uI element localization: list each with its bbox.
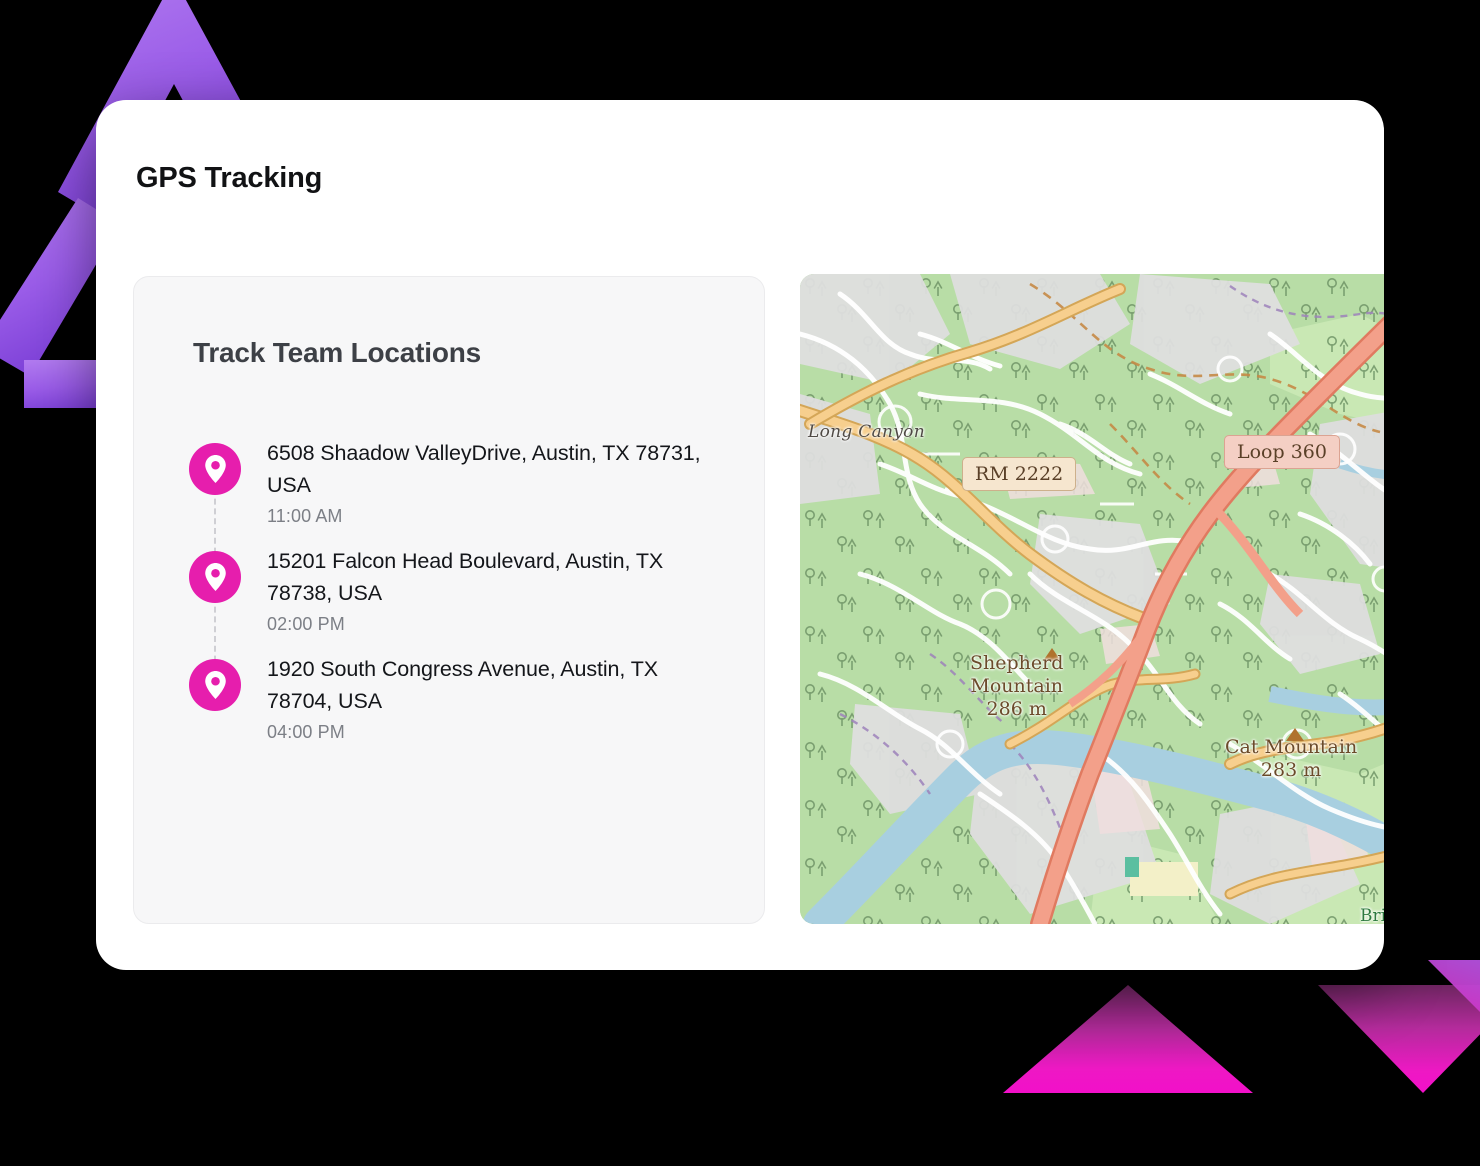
location-address: 15201 Falcon Head Boulevard, Austin, TX … [267, 543, 729, 609]
location-address: 6508 Shaadow ValleyDrive, Austin, TX 787… [267, 435, 727, 501]
location-address: 1920 South Congress Avenue, Austin, TX 7… [267, 651, 727, 717]
peak-marker-icon [1043, 648, 1061, 661]
panel-title: Track Team Locations [193, 337, 481, 369]
map-shield-loop360: Loop 360 [1224, 435, 1340, 469]
location-time: 11:00 AM [267, 506, 729, 527]
list-item[interactable]: 1920 South Congress Avenue, Austin, TX 7… [189, 651, 729, 743]
page-title: GPS Tracking [136, 162, 322, 195]
map-shield-rm2222: RM 2222 [962, 457, 1076, 491]
decorative-magenta-triangle-up [1003, 985, 1253, 1093]
track-locations-panel: Track Team Locations 6508 Shaadow Valley… [133, 276, 765, 924]
map-pin-icon [189, 443, 241, 495]
location-time: 04:00 PM [267, 722, 729, 743]
list-item[interactable]: 6508 Shaadow ValleyDrive, Austin, TX 787… [189, 435, 729, 543]
map-viewport[interactable]: Long Canyon RM 2222 Loop 360 Shepherd Mo… [800, 274, 1384, 924]
peak-marker-icon [1286, 728, 1304, 741]
page-root: GPS Tracking Track Team Locations 6508 S… [0, 0, 1480, 1166]
location-time: 02:00 PM [267, 614, 729, 635]
locations-timeline: 6508 Shaadow ValleyDrive, Austin, TX 787… [189, 435, 729, 743]
list-item[interactable]: 15201 Falcon Head Boulevard, Austin, TX … [189, 543, 729, 651]
map-pin-icon [189, 551, 241, 603]
map-pin-icon [189, 659, 241, 711]
decorative-magenta-corner [1428, 960, 1480, 1080]
gps-tracking-card: GPS Tracking Track Team Locations 6508 S… [96, 100, 1384, 970]
decorative-magenta-triangle-down [1318, 985, 1480, 1093]
map-canvas [800, 274, 1384, 924]
